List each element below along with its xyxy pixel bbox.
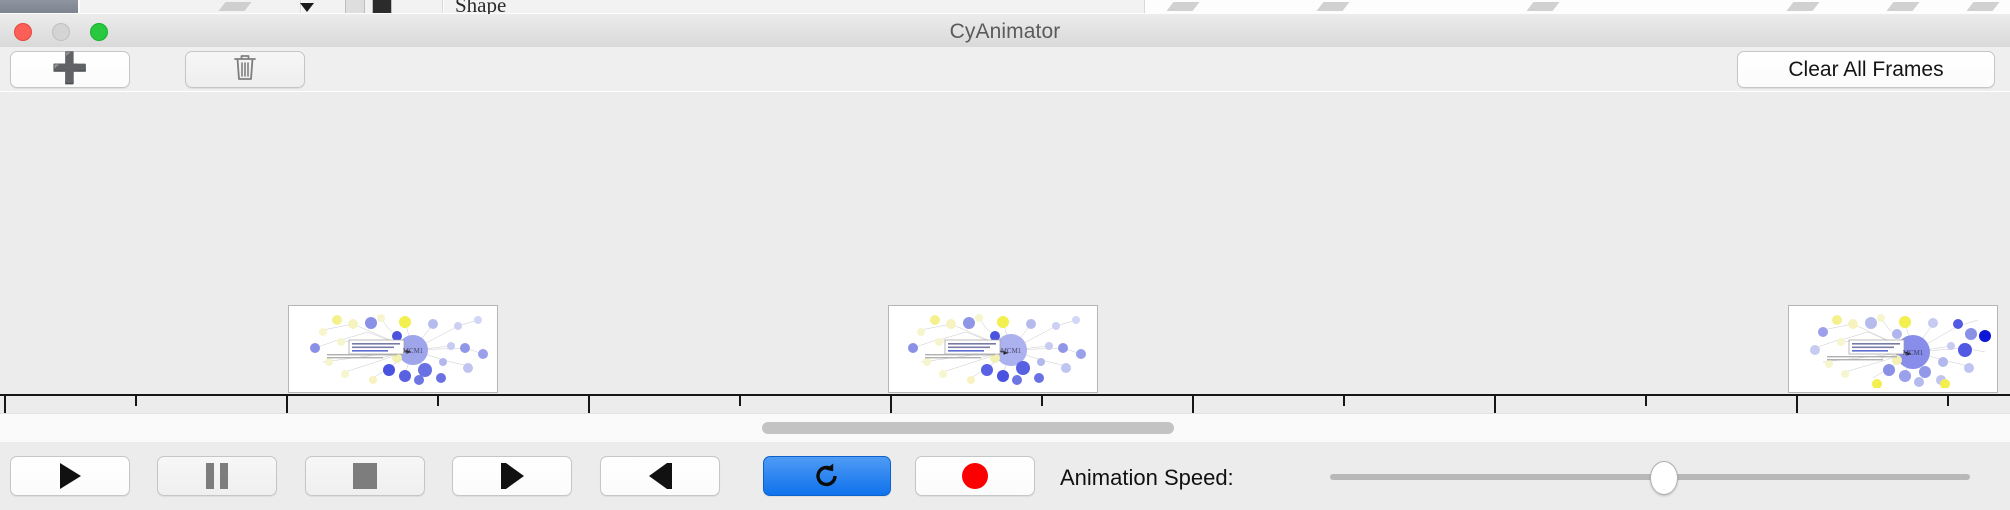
background-panel bbox=[444, 0, 1145, 13]
record-icon bbox=[962, 463, 988, 489]
timeline-axis bbox=[0, 394, 2010, 396]
frame-thumbnail[interactable]: MCM1 bbox=[1788, 305, 1998, 393]
axis-tick-minor bbox=[1645, 396, 1647, 406]
timeline-scrollbar[interactable] bbox=[0, 413, 2010, 443]
background-diagonal bbox=[1526, 2, 1559, 11]
animation-speed-slider[interactable] bbox=[1330, 456, 1970, 496]
clear-all-frames-button[interactable]: Clear All Frames bbox=[1737, 51, 1995, 88]
network-graph-thumbnail: MCM1 bbox=[893, 310, 1093, 388]
background-arrow-icon bbox=[300, 3, 314, 12]
delete-frame-button[interactable] bbox=[185, 51, 305, 88]
svg-text:MCM1: MCM1 bbox=[1001, 347, 1022, 355]
frame-thumbnail[interactable]: MCM1 bbox=[288, 305, 498, 393]
svg-text:MCM1: MCM1 bbox=[403, 347, 424, 355]
loop-button[interactable] bbox=[763, 456, 891, 496]
axis-tick-major bbox=[286, 396, 288, 414]
title-bar: CyAnimator bbox=[0, 14, 2010, 48]
background-dark-tab bbox=[0, 0, 78, 13]
skip-back-icon bbox=[501, 463, 524, 489]
background-diagonal bbox=[1166, 2, 1199, 11]
toolbar: ➕ Clear All Frames bbox=[0, 47, 2010, 92]
scrollbar-thumb[interactable] bbox=[762, 422, 1174, 434]
axis-tick-minor bbox=[739, 396, 741, 406]
axis-tick-major bbox=[588, 396, 590, 414]
background-diagonal bbox=[1966, 2, 1999, 11]
stop-icon bbox=[353, 463, 377, 489]
play-icon bbox=[60, 463, 81, 489]
skip-to-start-button[interactable] bbox=[452, 456, 572, 496]
cyanimator-window: Shape CyAnimator ➕ Clear All Frames bbox=[0, 0, 2010, 510]
thumbnail-shadow bbox=[497, 309, 498, 393]
background-diagonal bbox=[1886, 2, 1919, 11]
axis-tick-minor bbox=[1041, 396, 1043, 406]
skip-forward-icon bbox=[649, 463, 672, 489]
background-diagonal bbox=[1786, 2, 1819, 11]
slider-thumb[interactable] bbox=[1650, 461, 1678, 495]
axis-tick-major bbox=[1192, 396, 1194, 414]
animation-speed-label: Animation Speed: bbox=[1060, 465, 1234, 491]
background-diagonal bbox=[1316, 2, 1349, 11]
record-button[interactable] bbox=[915, 456, 1035, 496]
window-title: CyAnimator bbox=[0, 20, 2010, 44]
axis-tick-minor bbox=[135, 396, 137, 406]
network-graph-thumbnail: MCM1 bbox=[293, 310, 493, 388]
plus-icon: ➕ bbox=[51, 54, 88, 84]
thumbnail-shadow bbox=[1097, 309, 1098, 393]
frame-thumbnail[interactable]: MCM1 bbox=[888, 305, 1098, 393]
svg-text:MCM1: MCM1 bbox=[1903, 349, 1924, 357]
skip-to-end-button[interactable] bbox=[600, 456, 720, 496]
loop-icon bbox=[812, 461, 842, 491]
axis-tick-major bbox=[1494, 396, 1496, 414]
axis-tick-minor bbox=[1947, 396, 1949, 406]
axis-tick-minor bbox=[437, 396, 439, 406]
clear-all-frames-label: Clear All Frames bbox=[1788, 58, 1943, 82]
axis-tick-major bbox=[890, 396, 892, 414]
thumbnail-shadow bbox=[1997, 309, 1998, 393]
play-button[interactable] bbox=[10, 456, 130, 496]
timeline-pane[interactable]: MCM1 bbox=[0, 91, 2010, 414]
playback-bar: Animation Speed: bbox=[0, 442, 2010, 510]
background-shape-label: Shape bbox=[455, 0, 506, 14]
axis-tick-major bbox=[1796, 396, 1798, 414]
network-graph-thumbnail: MCM1 bbox=[1793, 310, 1993, 388]
background-window-strip: Shape bbox=[0, 0, 2010, 14]
add-frame-button[interactable]: ➕ bbox=[10, 51, 130, 88]
axis-tick-major bbox=[4, 396, 6, 414]
axis-tick-minor bbox=[1343, 396, 1345, 406]
stop-button[interactable] bbox=[305, 456, 425, 496]
pause-button[interactable] bbox=[157, 456, 277, 496]
background-box bbox=[372, 0, 392, 13]
pause-icon bbox=[206, 463, 228, 489]
trash-icon bbox=[232, 52, 258, 87]
background-box bbox=[345, 0, 365, 13]
background-panel bbox=[80, 0, 301, 13]
